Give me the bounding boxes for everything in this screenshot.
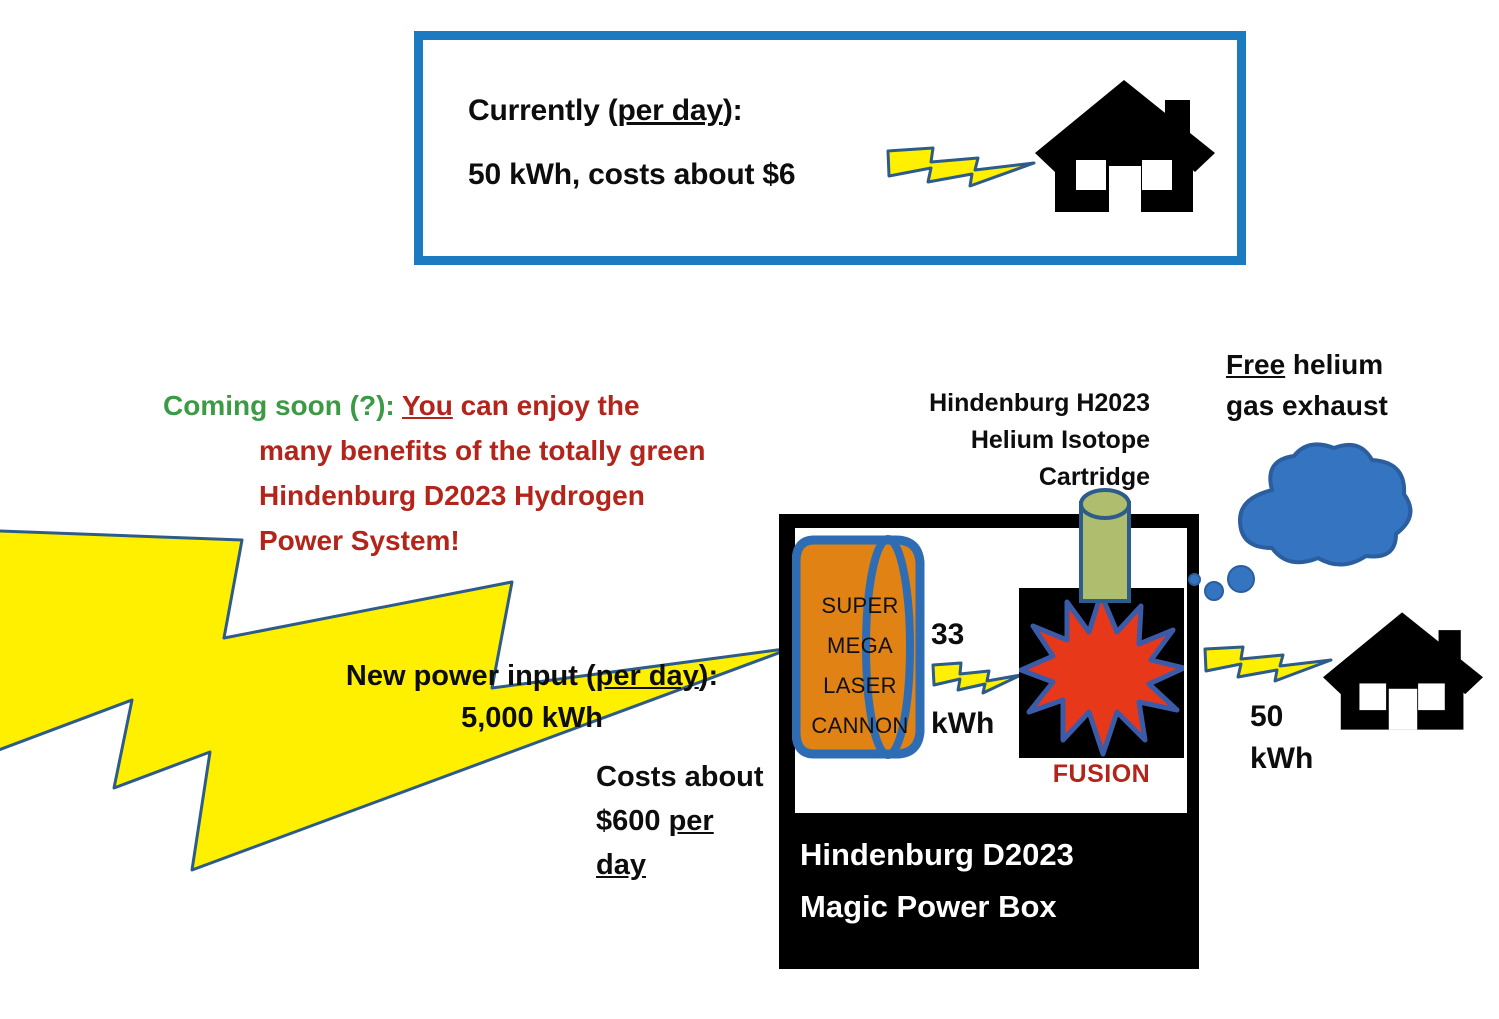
helium-exhaust-line-2: gas exhaust: [1226, 385, 1476, 426]
coming-soon-you: You: [402, 390, 453, 421]
power-box-title-line-2: Magic Power Box: [800, 881, 1200, 933]
helium-bubble-icon: [1188, 573, 1201, 586]
fusion-text: FUSION: [1019, 760, 1184, 789]
new-power-input-label: New power input (per day): 5,000 kWh: [322, 655, 742, 739]
transfer-amount: 33: [931, 614, 1011, 655]
laser-cannon-text: SUPER MEGA LASER CANNON: [800, 586, 920, 746]
new-power-prefix: New power input (: [346, 660, 596, 692]
cartridge-label-line-1: Hindenburg H2023: [870, 385, 1150, 422]
new-power-per-day: per day: [596, 660, 699, 692]
helium-exhaust-line-1: Free helium: [1226, 344, 1476, 385]
cost-day: day: [596, 849, 646, 881]
coming-soon-line-1-rest: can enjoy the: [453, 390, 640, 421]
lightning-bolt-icon: [931, 655, 1023, 699]
power-box-title-line-1: Hindenburg D2023: [800, 829, 1200, 881]
current-label-suffix: ):: [723, 94, 743, 127]
house-icon: [1323, 612, 1483, 730]
helium-exhaust-rest: helium: [1285, 349, 1383, 380]
helium-exhaust-free: Free: [1226, 349, 1285, 380]
transfer-unit: kWh: [931, 703, 1011, 744]
input-cost-label: Costs about $600 per day: [596, 755, 776, 887]
helium-cartridge-label: Hindenburg H2023 Helium Isotope Cartridg…: [870, 385, 1150, 496]
helium-isotope-cartridge-tube: [1076, 487, 1134, 608]
cannon-line-4: CANNON: [800, 706, 920, 746]
current-label-per-day: per day: [618, 94, 723, 127]
cost-line-2: $600 per: [596, 799, 776, 843]
new-power-line-1: New power input (per day):: [322, 655, 742, 697]
coming-soon-heading: Coming soon (?):: [163, 390, 395, 421]
house-icon: [1035, 80, 1215, 212]
cost-amount: $600: [596, 805, 669, 837]
output-unit: kWh: [1250, 738, 1350, 780]
cartridge-label-line-2: Helium Isotope: [870, 422, 1150, 459]
lightning-bolt-icon: [1203, 638, 1333, 688]
coming-soon-line-3: Hindenburg D2023 Hydrogen: [163, 476, 763, 515]
coming-soon-line-2: many benefits of the totally green: [163, 431, 763, 470]
current-label-prefix: Currently (: [468, 94, 618, 127]
power-box-title: Hindenburg D2023 Magic Power Box: [800, 829, 1200, 933]
helium-bubble-icon: [1204, 581, 1224, 601]
helium-exhaust-label: Free helium gas exhaust: [1226, 344, 1476, 426]
helium-gas-cloud-icon: [1220, 438, 1420, 581]
fusion-label: FUSION: [1019, 760, 1184, 789]
cannon-line-3: LASER: [800, 666, 920, 706]
cost-line-3: day: [596, 843, 776, 887]
lightning-bolt-icon: [886, 138, 1036, 194]
cost-per: per: [669, 805, 714, 837]
cannon-line-1: SUPER: [800, 586, 920, 626]
cannon-line-2: MEGA: [800, 626, 920, 666]
cost-line-1: Costs about: [596, 755, 776, 799]
helium-bubble-icon: [1227, 565, 1255, 593]
new-power-amount: 5,000 kWh: [322, 697, 742, 739]
fusion-chamber: [1019, 588, 1184, 758]
diagram-canvas: Currently (per day): 50 kWh, costs about…: [0, 0, 1499, 1019]
current-label-line-2: 50 kWh, costs about $6: [468, 158, 795, 192]
coming-soon-line-1: Coming soon (?): You can enjoy the: [163, 386, 763, 425]
new-power-suffix: ):: [699, 660, 718, 692]
current-label-line-1: Currently (per day):: [468, 94, 742, 128]
